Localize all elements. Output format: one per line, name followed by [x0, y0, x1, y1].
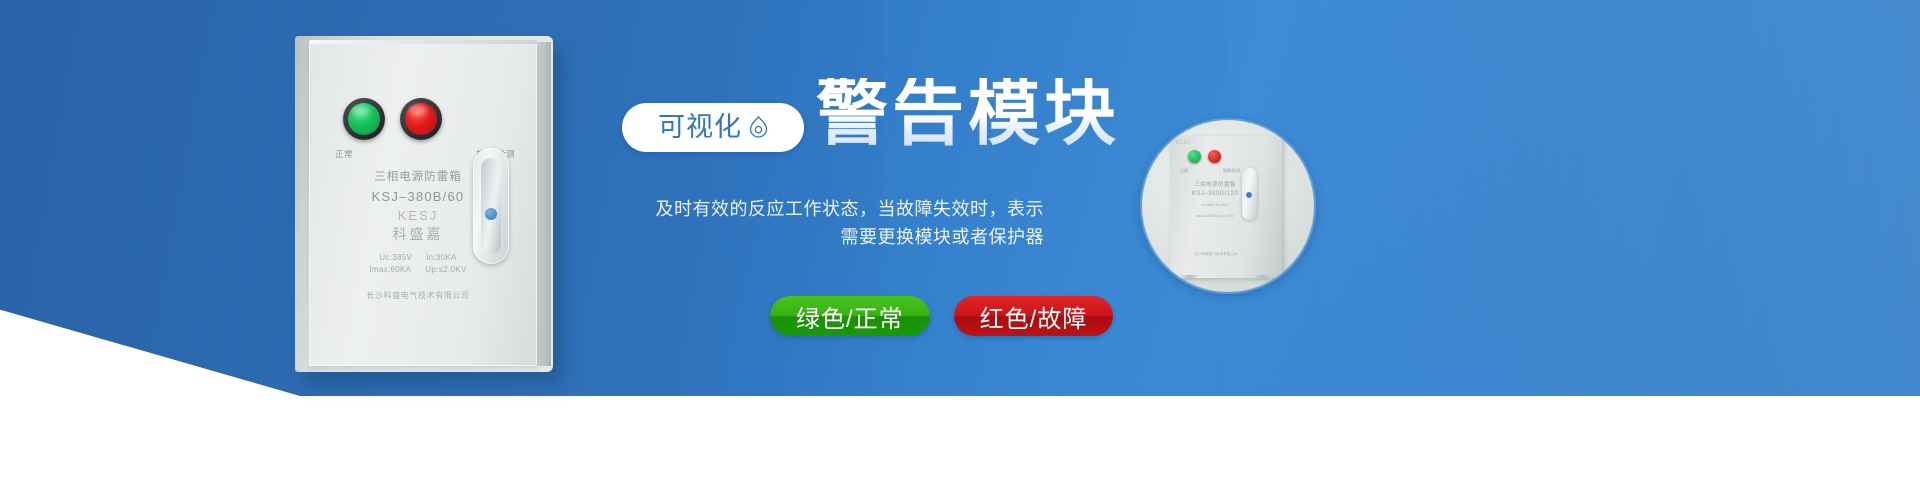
status-badge-normal: 绿色/正常 — [770, 296, 930, 336]
nameplate-company: 长沙科盛电气技术有限公司 — [323, 290, 513, 301]
spec-uc: Uc:385V — [379, 252, 412, 264]
indicator-gloss — [352, 105, 370, 116]
inset-red-indicator — [1208, 150, 1221, 163]
inset-latch-keyhole-icon — [1246, 192, 1252, 198]
indicator-gloss — [409, 105, 427, 116]
subtitle: 及时有效的反应工作状态，当故障失效时，表示 需要更换模块或者保护器 — [524, 196, 1044, 252]
status-badge-fault: 红色/故障 — [954, 296, 1114, 336]
page-title: 警告模块 — [816, 78, 1120, 150]
inset-label-normal: 正常 — [1180, 168, 1188, 174]
latch-keyhole-icon — [485, 208, 497, 220]
subtitle-line-2: 需要更换模块或者保护器 — [524, 224, 1044, 252]
subtitle-line-1: 及时有效的反应工作状态，当故障失效时，表示 — [524, 196, 1044, 224]
inset-company: 长沙科盛电气技术有限公司 — [1172, 252, 1260, 257]
green-indicator — [343, 98, 385, 140]
status-badge-group: 绿色/正常 红色/故障 — [770, 296, 1113, 336]
status-badge-normal-label: 绿色/正常 — [796, 299, 904, 334]
spec-in: In:30KA — [426, 252, 457, 264]
cabinet-top-edge — [309, 40, 537, 44]
inset-label-fault: 故障/检测 — [1223, 168, 1240, 174]
inset-logo-text: KESJ — [1176, 140, 1191, 146]
eye-diamond-icon — [749, 116, 768, 139]
inset-green-indicator — [1188, 150, 1201, 163]
circular-inset-photo: KESJ 正常 故障/检测 三相电源防雷箱 KSJ–380D/120 Uc:38… — [1140, 118, 1316, 294]
spec-up: Up:≤2.0KV — [425, 264, 466, 276]
red-indicator — [400, 98, 442, 140]
inset-indicator-labels: 正常 故障/检测 — [1180, 168, 1240, 174]
pill-label: 可视化 — [658, 114, 742, 141]
inset-cabinet-feet — [1178, 275, 1274, 280]
indicator-label-normal: 正常 — [335, 148, 353, 160]
product-photo: 正常 故障/检测 三相电源防雷箱 KSJ–380B/60 KESJ 科盛嘉 Uc… — [295, 36, 553, 372]
product-banner: 正常 故障/检测 三相电源防雷箱 KSJ–380B/60 KESJ 科盛嘉 Uc… — [0, 0, 1920, 500]
spec-imax: Imax:60KA — [369, 264, 411, 276]
visualization-pill-badge: 可视化 — [622, 103, 804, 152]
status-badge-fault-label: 红色/故障 — [980, 299, 1088, 334]
door-latch-handle — [473, 148, 509, 264]
latch-inner — [481, 158, 501, 254]
